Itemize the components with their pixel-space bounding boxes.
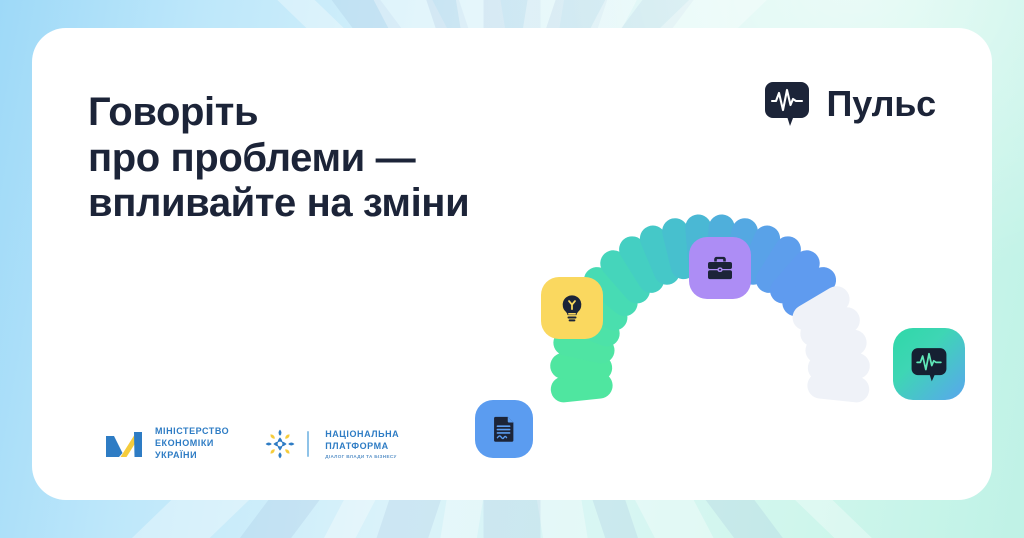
lightbulb-icon [557, 293, 587, 323]
partner-logos: МІНІСТЕРСТВО ЕКОНОМІКИ УКРАЇНИ [104, 426, 399, 462]
document-signed-icon [489, 414, 519, 444]
national-platform-star-icon [263, 427, 297, 461]
partner-national-platform: НАЦІОНАЛЬНА ПЛАТФОРМА ДІАЛОГ ВЛАДИ ТА БІ… [263, 427, 399, 461]
partner-line: МІНІСТЕРСТВО [155, 426, 229, 438]
partner-line: НАЦІОНАЛЬНА [325, 429, 399, 441]
pulse-speech-bubble-icon [763, 80, 811, 128]
tile-idea[interactable] [541, 277, 603, 339]
page-title: Говоріть про проблеми — впливайте на змі… [88, 90, 608, 227]
partner-line: УКРАЇНИ [155, 450, 229, 462]
poster-stage: Говоріть про проблеми — впливайте на змі… [0, 0, 1024, 538]
partner-ministry-text: МІНІСТЕРСТВО ЕКОНОМІКИ УКРАЇНИ [155, 426, 229, 462]
ministry-m-checkmark-icon [104, 429, 146, 459]
briefcase-icon [705, 253, 735, 283]
partner-divider [307, 431, 309, 457]
content-card: Говоріть про проблеми — впливайте на змі… [32, 28, 992, 500]
tile-document[interactable] [475, 400, 533, 458]
partner-national-platform-text: НАЦІОНАЛЬНА ПЛАТФОРМА ДІАЛОГ ВЛАДИ ТА БІ… [325, 429, 399, 459]
brand-name: Пульс [827, 83, 936, 125]
tile-pulse[interactable] [893, 328, 965, 400]
brand-lockup: Пульс [763, 80, 936, 128]
partner-line: ПЛАТФОРМА [325, 441, 399, 453]
pulse-speech-bubble-icon [910, 345, 948, 383]
partner-line: ЕКОНОМІКИ [155, 438, 229, 450]
partner-tagline: ДІАЛОГ ВЛАДИ ТА БІЗНЕСУ [325, 454, 399, 459]
partner-ministry: МІНІСТЕРСТВО ЕКОНОМІКИ УКРАЇНИ [104, 426, 229, 462]
tile-business[interactable] [689, 237, 751, 299]
